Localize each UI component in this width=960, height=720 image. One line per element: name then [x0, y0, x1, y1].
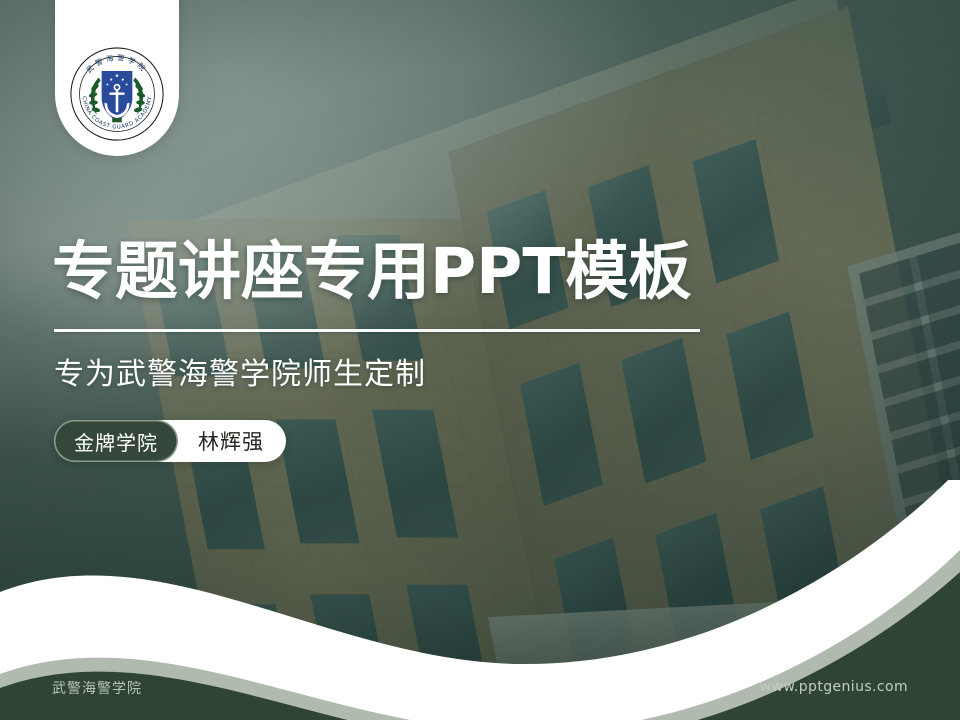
china-coast-guard-academy-emblem: 武警海警学院 CHINA COAST GUARD ACADEMY: [69, 46, 165, 142]
title-divider: [54, 329, 700, 332]
presenter-badge: 金牌学院 林辉强: [54, 420, 286, 462]
badge-presenter-name: 林辉强: [178, 426, 264, 456]
presentation-title-slide: 武警海警学院 CHINA COAST GUARD ACADEMY: [0, 0, 960, 720]
footer-institution: 武警海警学院: [52, 678, 142, 698]
page-subtitle: 专为武警海警学院师生定制: [54, 349, 426, 393]
logo-banner: 武警海警学院 CHINA COAST GUARD ACADEMY: [55, 0, 179, 156]
footer-website[interactable]: www.pptgenius.com: [760, 679, 908, 695]
page-title: 专题讲座专用PPT模板: [52, 237, 691, 308]
badge-tag-label: 金牌学院: [54, 420, 178, 462]
